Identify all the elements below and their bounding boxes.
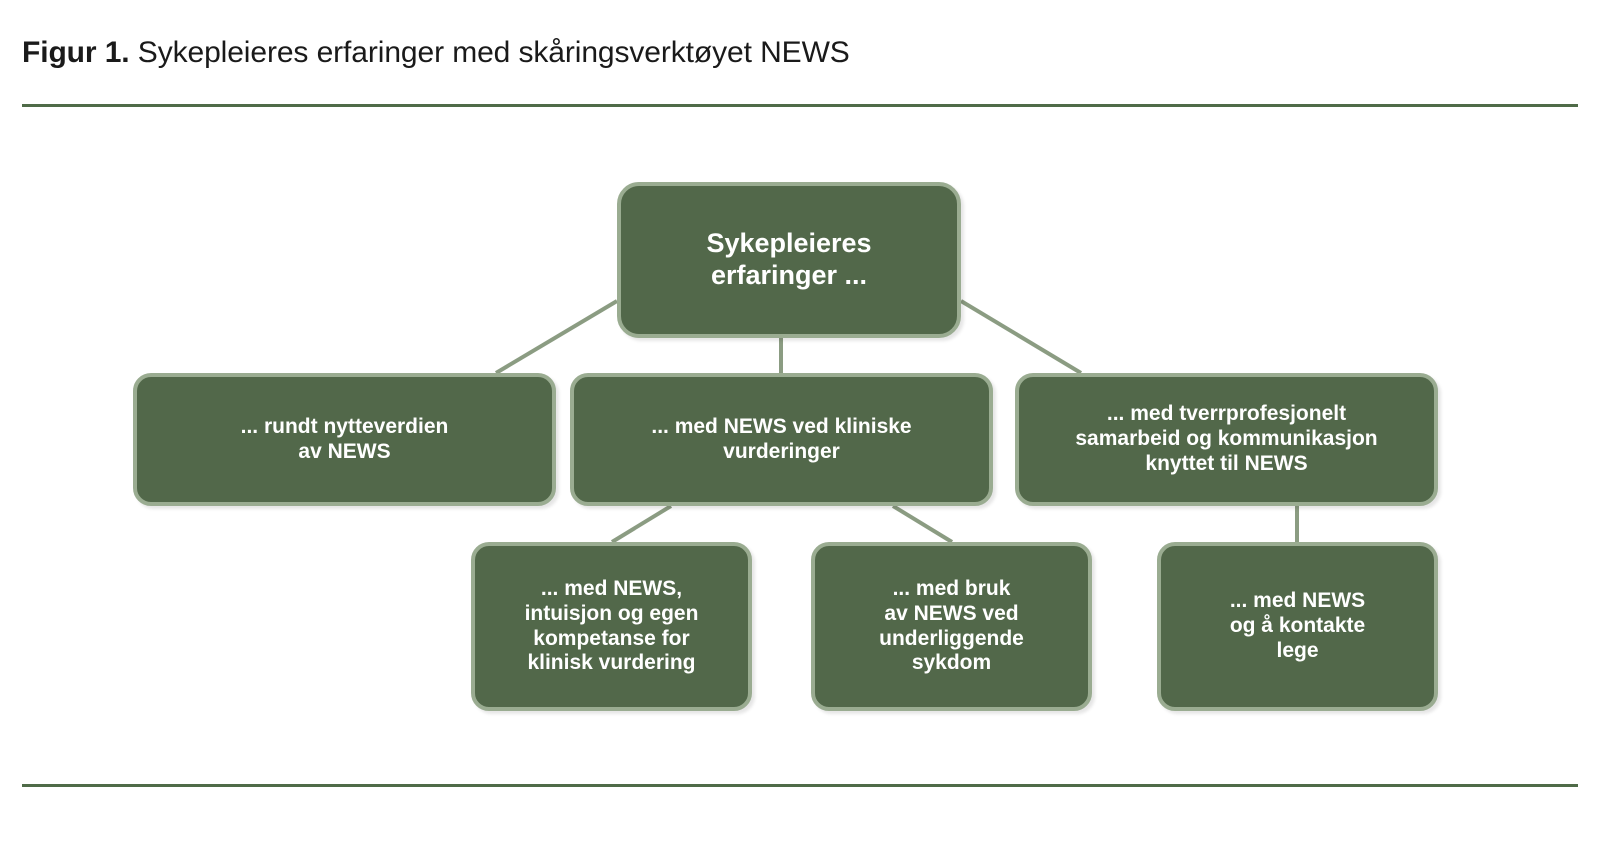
node-tverrprofesjonelt-label: ... med tverrprofesjonelt samarbeid og k…: [1065, 402, 1387, 476]
figure-container: Figur 1. Sykepleieres erfaringer med skå…: [0, 0, 1600, 843]
connector-root-to-tverrprofesjonelt: [961, 301, 1081, 373]
node-root-label: Sykepleieres erfaringer ...: [696, 228, 881, 292]
connector-root-to-nytteverdi: [496, 301, 617, 373]
node-intuisjon-label: ... med NEWS, intuisjon og egen kompetan…: [515, 577, 709, 676]
node-intuisjon[interactable]: ... med NEWS, intuisjon og egen kompetan…: [471, 542, 752, 711]
node-kontakte-lege-label: ... med NEWS og å kontakte lege: [1220, 589, 1375, 663]
tree-diagram: Sykepleieres erfaringer ... ... rundt ny…: [0, 0, 1600, 843]
node-underliggende-sykdom[interactable]: ... med bruk av NEWS ved underliggende s…: [811, 542, 1092, 711]
node-nytteverdi[interactable]: ... rundt nytteverdien av NEWS: [133, 373, 556, 506]
node-kliniske-vurderinger[interactable]: ... med NEWS ved kliniske vurderinger: [570, 373, 993, 506]
node-kontakte-lege[interactable]: ... med NEWS og å kontakte lege: [1157, 542, 1438, 711]
connector-kliniske-to-underliggende: [893, 506, 952, 542]
node-kliniske-vurderinger-label: ... med NEWS ved kliniske vurderinger: [641, 415, 921, 465]
node-underliggende-sykdom-label: ... med bruk av NEWS ved underliggende s…: [869, 577, 1034, 676]
node-root[interactable]: Sykepleieres erfaringer ...: [617, 182, 961, 338]
node-nytteverdi-label: ... rundt nytteverdien av NEWS: [231, 415, 459, 465]
node-tverrprofesjonelt[interactable]: ... med tverrprofesjonelt samarbeid og k…: [1015, 373, 1438, 506]
connector-kliniske-to-intuisjon: [612, 506, 671, 542]
